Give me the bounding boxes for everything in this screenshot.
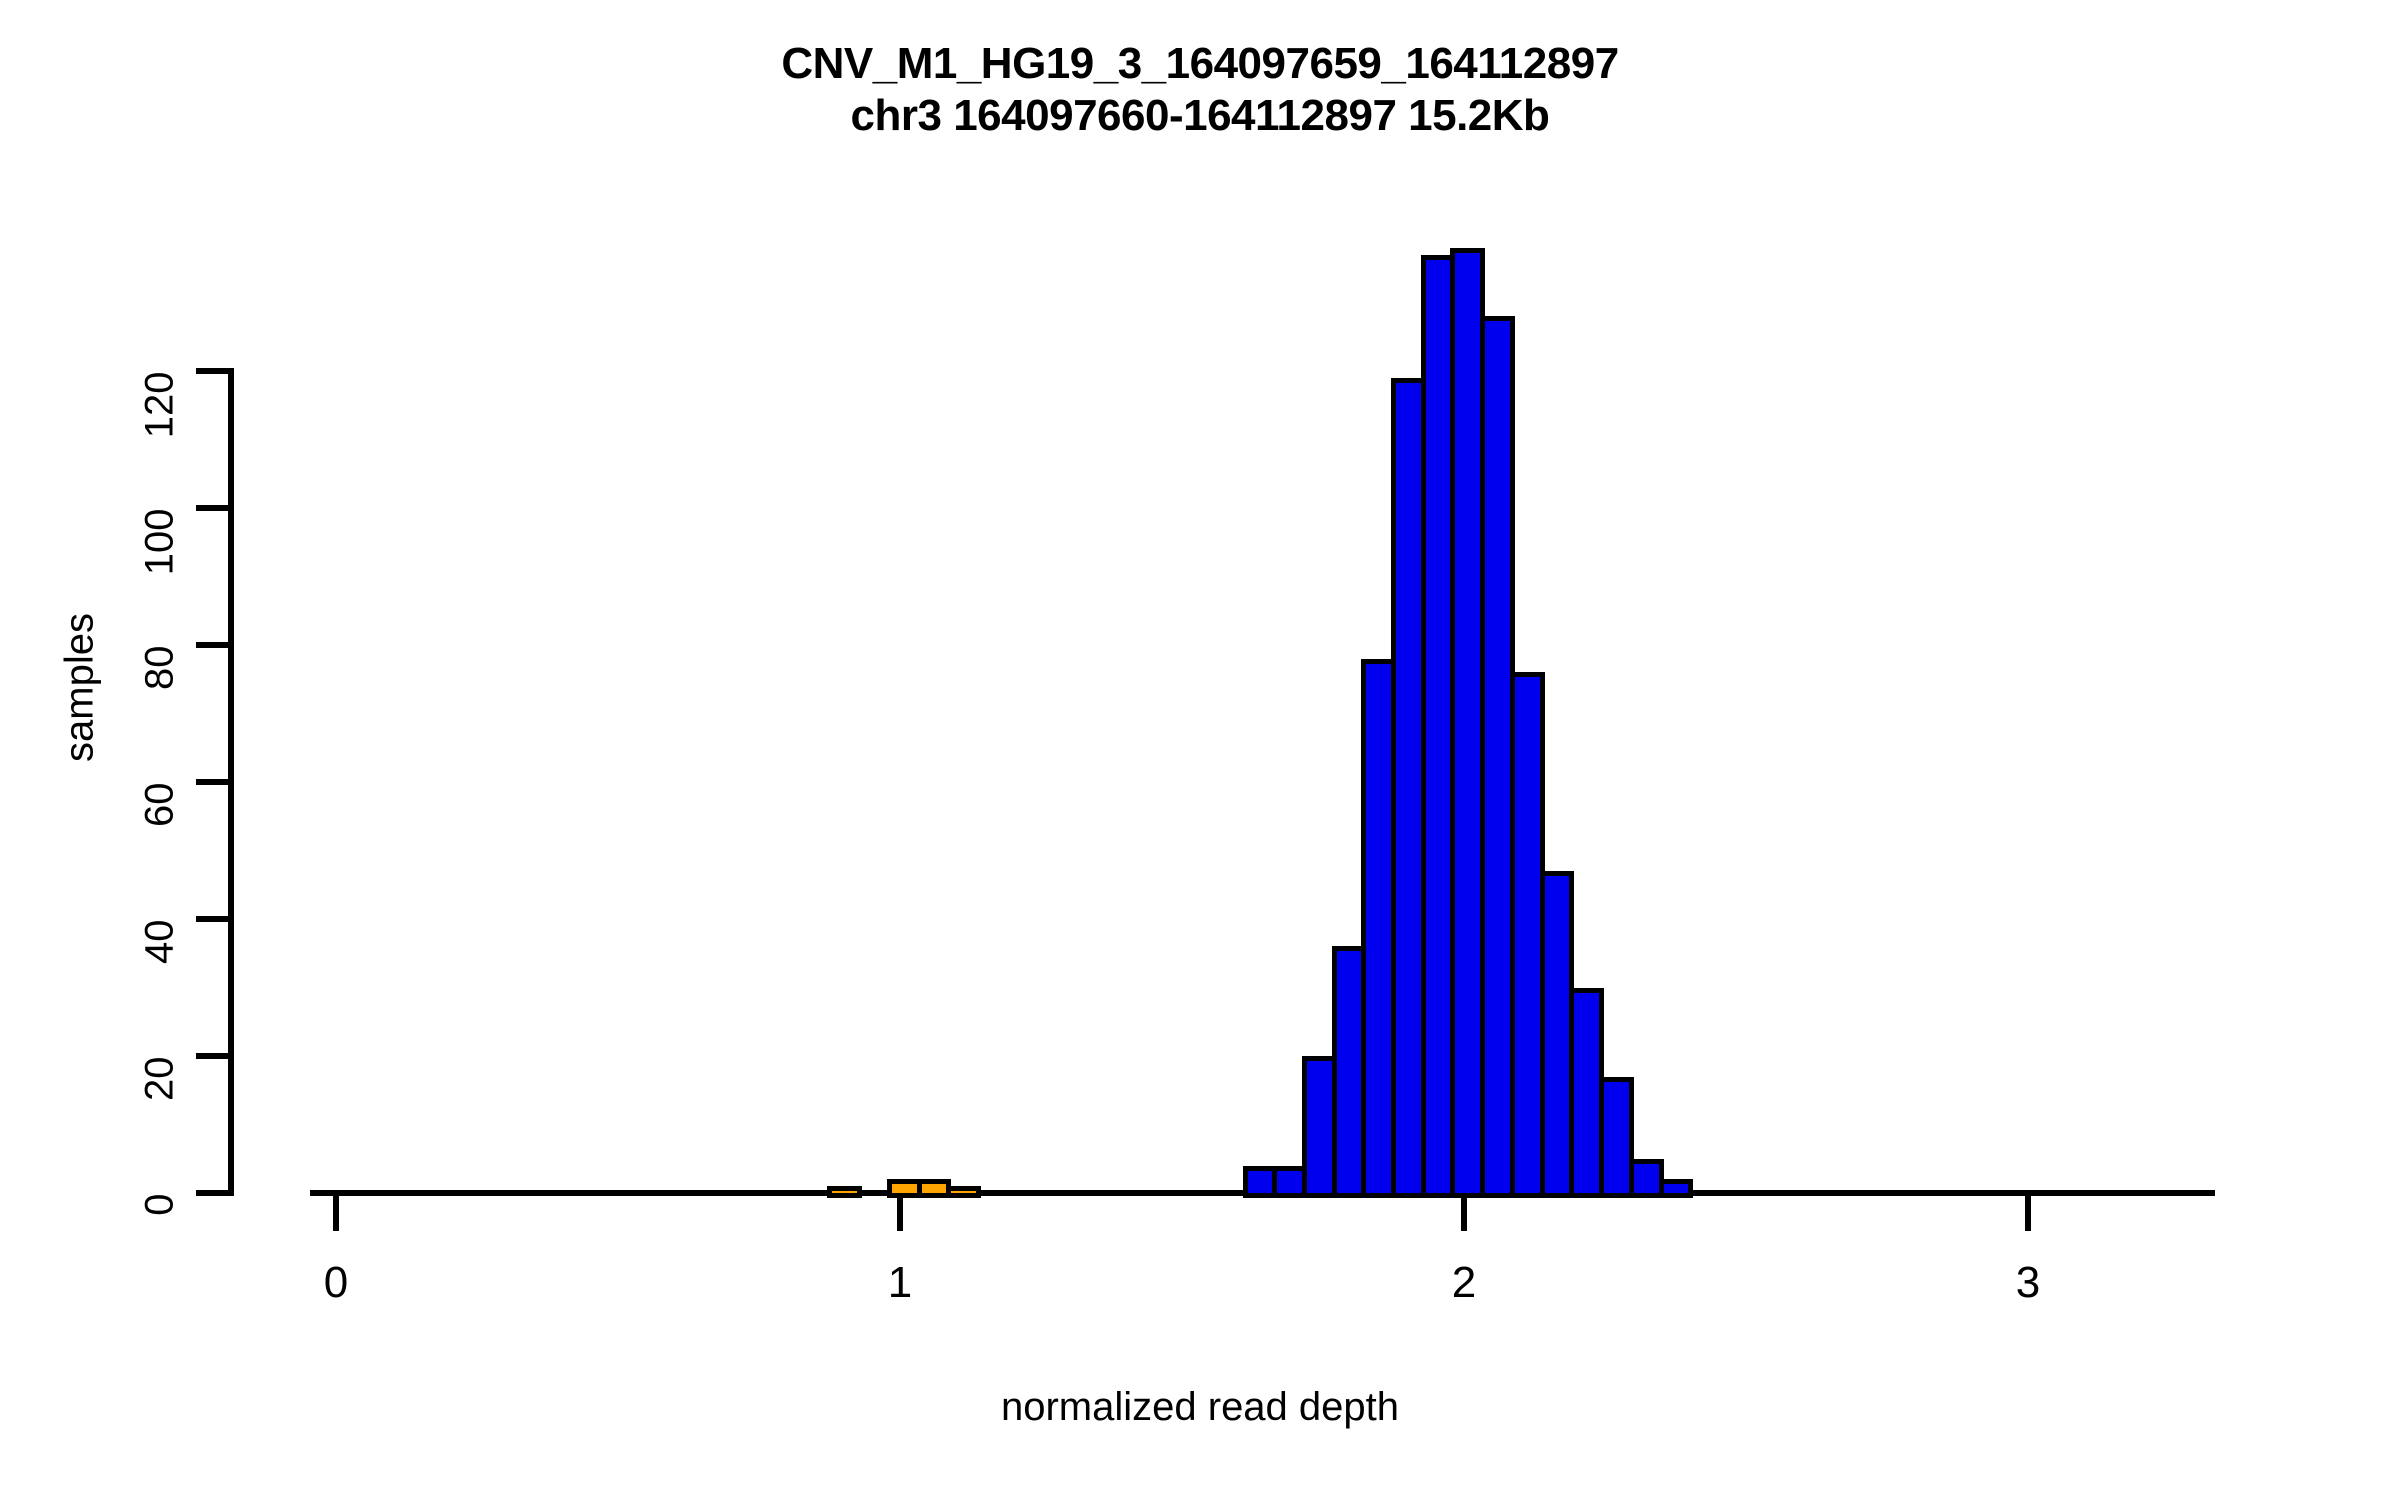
x-tick-label-0: 0 [276, 1258, 396, 1308]
plot-title-line-1: CNV_M1_HG19_3_164097659_164112897 [0, 38, 2400, 90]
y-tick-label-20: 20 [138, 1057, 183, 1217]
y-tick-120 [196, 368, 234, 374]
x-tick-3 [2025, 1193, 2031, 1231]
x-tick-label-3: 3 [1968, 1258, 2088, 1308]
y-tick-20 [196, 1053, 234, 1059]
y-tick-80 [196, 642, 234, 648]
x-axis-label: normalized read depth [0, 1385, 2400, 1430]
y-tick-label-100: 100 [138, 509, 183, 669]
y-axis-label: samples [58, 488, 103, 888]
histogram-plot: CNV_M1_HG19_3_164097659_164112897 chr3 1… [0, 0, 2400, 1500]
y-tick-label-80: 80 [138, 646, 183, 806]
y-tick-0 [196, 1190, 234, 1196]
plot-title-line-2: chr3 164097660-164112897 15.2Kb [0, 90, 2400, 142]
histogram-bar [827, 1186, 862, 1198]
y-tick-40 [196, 916, 234, 922]
y-tick-label-60: 60 [138, 783, 183, 943]
histogram-bar [1659, 1179, 1694, 1198]
y-tick-100 [196, 505, 234, 511]
plot-title: CNV_M1_HG19_3_164097659_164112897 chr3 1… [0, 38, 2400, 142]
y-tick-60 [196, 779, 234, 785]
x-tick-2 [1461, 1193, 1467, 1231]
y-tick-label-120: 120 [138, 372, 183, 532]
x-tick-label-1: 1 [840, 1258, 960, 1308]
histogram-bar [946, 1186, 981, 1198]
x-tick-0 [333, 1193, 339, 1231]
x-tick-1 [897, 1193, 903, 1231]
y-tick-label-0: 0 [138, 1194, 183, 1354]
y-tick-label-40: 40 [138, 920, 183, 1080]
x-tick-label-2: 2 [1404, 1258, 1524, 1308]
